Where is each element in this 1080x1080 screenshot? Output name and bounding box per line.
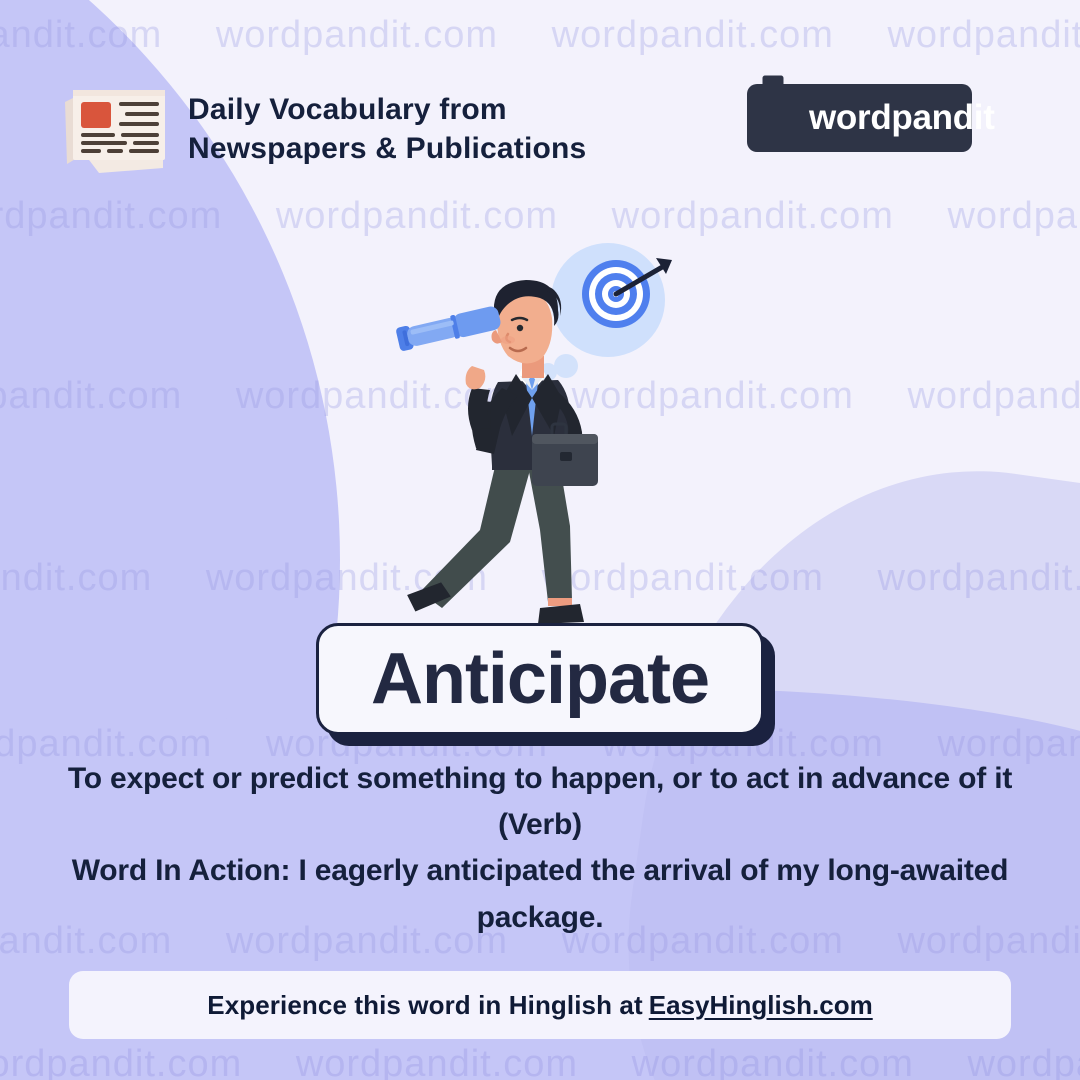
telescope-icon xyxy=(395,305,502,352)
vocabulary-card-canvas: wordpandit.com wordpandit.com wordpandit… xyxy=(0,0,1080,1080)
vocabulary-word: Anticipate xyxy=(371,643,709,715)
word-card-wrapper: Anticipate xyxy=(316,623,764,735)
wordpandit-logo[interactable]: wordpandit xyxy=(747,84,972,152)
newspaper-icon xyxy=(55,72,173,177)
header-title-line-2: Newspapers & Publications xyxy=(188,129,586,168)
businessman-with-telescope-illustration xyxy=(380,230,700,640)
word-card: Anticipate xyxy=(316,623,764,735)
hinglish-banner-text: Experience this word in Hinglish at xyxy=(207,990,642,1021)
word-example: Word In Action: I eagerly anticipated th… xyxy=(50,848,1030,940)
thought-dot xyxy=(554,354,578,378)
header: Daily Vocabulary from Newspapers & Publi… xyxy=(0,0,1080,185)
definition-block: To expect or predict something to happen… xyxy=(50,756,1030,941)
header-title-line-1: Daily Vocabulary from xyxy=(188,90,586,129)
page-title: Daily Vocabulary from Newspapers & Publi… xyxy=(188,90,586,168)
word-definition: To expect or predict something to happen… xyxy=(50,756,1030,848)
hinglish-banner[interactable]: Experience this word in Hinglish at Easy… xyxy=(69,971,1011,1039)
easyhinglish-link[interactable]: EasyHinglish.com xyxy=(649,990,873,1021)
bookmark-w-icon xyxy=(761,74,805,132)
logo-text: wordpandit xyxy=(809,98,995,138)
